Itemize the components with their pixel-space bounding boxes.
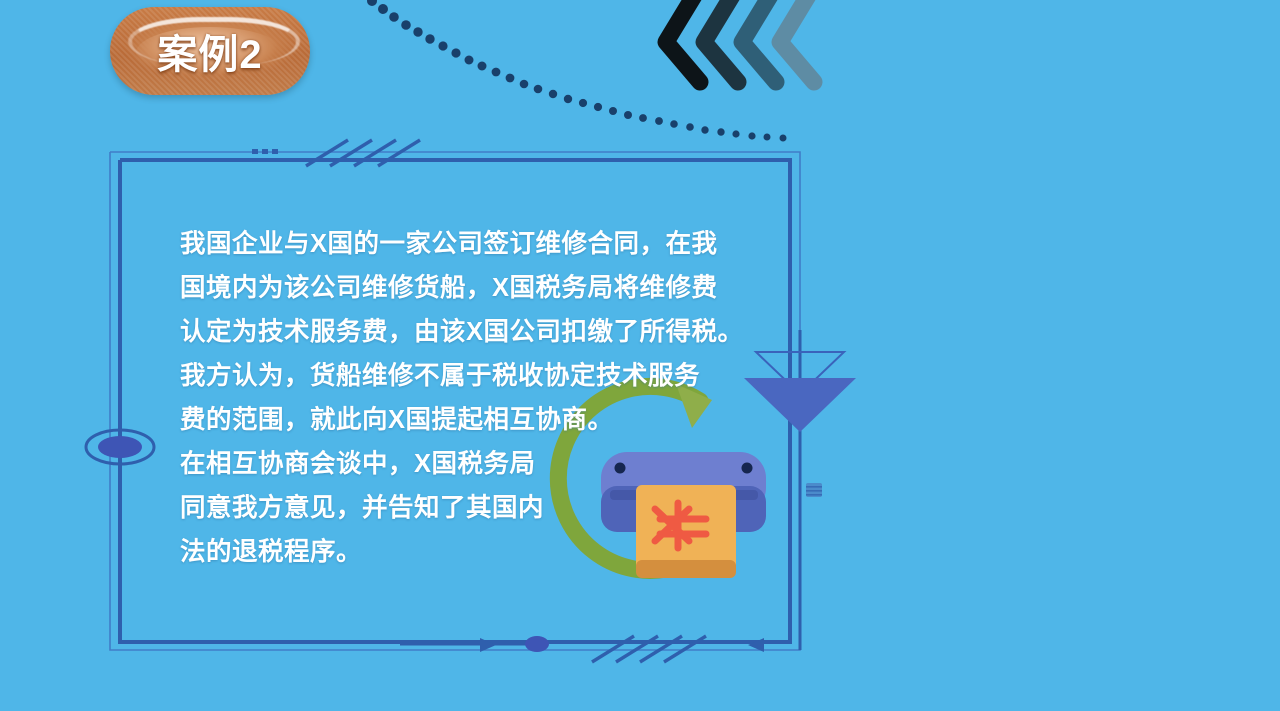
hatch-marks-bottom xyxy=(592,636,706,662)
body-line: 法的退税程序。 xyxy=(180,530,740,574)
body-line: 我方认为，货船维修不属于税收协定技术服务 xyxy=(180,354,740,398)
dotted-arc xyxy=(367,0,787,142)
slide-canvas: 案例2 我国企业与X国的一家公司签订维修合同，在我 国境内为该公司维修货船，X国… xyxy=(0,0,1280,711)
body-line: 同意我方意见，并告知了其国内 xyxy=(180,486,740,530)
funnel-icon xyxy=(744,330,856,650)
case-badge-label: 案例2 xyxy=(157,22,262,80)
body-line: 我国企业与X国的一家公司签订维修合同，在我 xyxy=(180,222,740,266)
frame-knob xyxy=(806,483,822,497)
body-line: 国境内为该公司维修货船，X国税务局将维修费 xyxy=(180,266,740,310)
left-border-node xyxy=(86,430,154,464)
body-line: 认定为技术服务费，由该X国公司扣缴了所得税。 xyxy=(180,310,740,354)
chevron-left-icon xyxy=(742,0,776,82)
bottom-arrow-line xyxy=(400,636,549,652)
chevron-left-group xyxy=(666,0,814,82)
chevron-left-icon xyxy=(666,0,700,82)
body-line: 在相互协商会谈中，X国税务局 xyxy=(180,442,740,486)
case-badge[interactable]: 案例2 xyxy=(110,7,310,95)
case-body-text: 我国企业与X国的一家公司签订维修合同，在我 国境内为该公司维修货船，X国税务局将… xyxy=(180,222,740,574)
chevron-left-icon xyxy=(704,0,738,82)
chevron-left-icon xyxy=(780,0,814,82)
hatch-marks-top xyxy=(306,140,420,166)
right-arrow-head xyxy=(748,638,764,652)
body-line: 费的范围，就此向X国提起相互协商。 xyxy=(180,398,740,442)
frame-dash-marks xyxy=(252,149,278,154)
